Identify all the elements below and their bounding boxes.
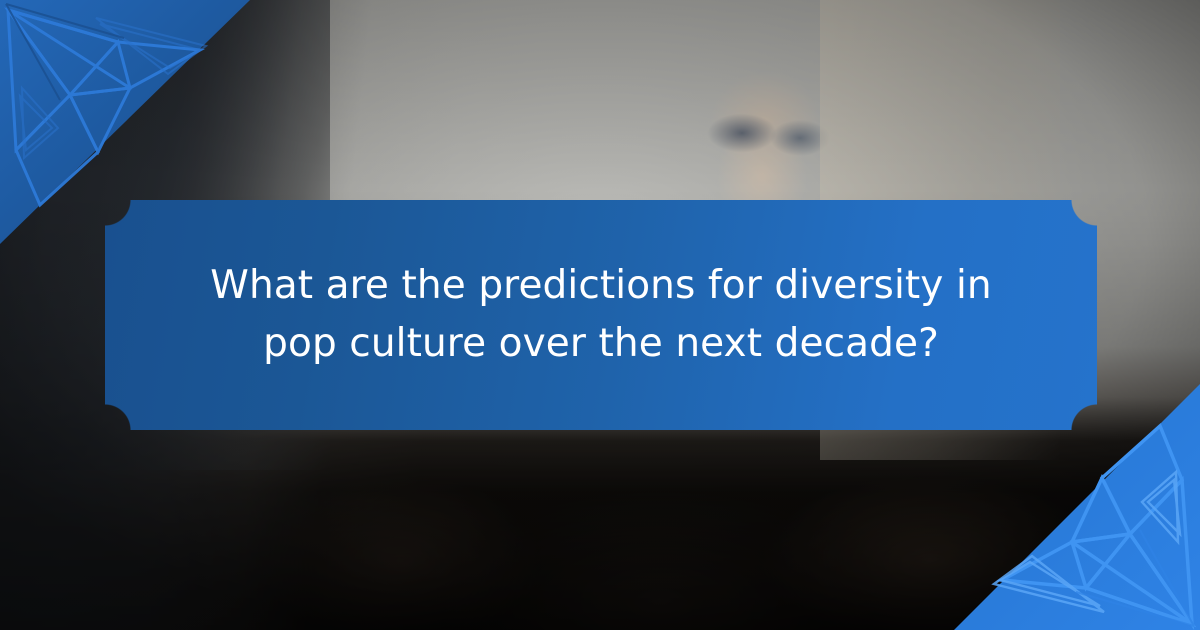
title-banner: What are the predictions for diversity i…	[105, 200, 1097, 430]
share-card: What are the predictions for diversity i…	[0, 0, 1200, 630]
page-title: What are the predictions for diversity i…	[206, 257, 996, 372]
